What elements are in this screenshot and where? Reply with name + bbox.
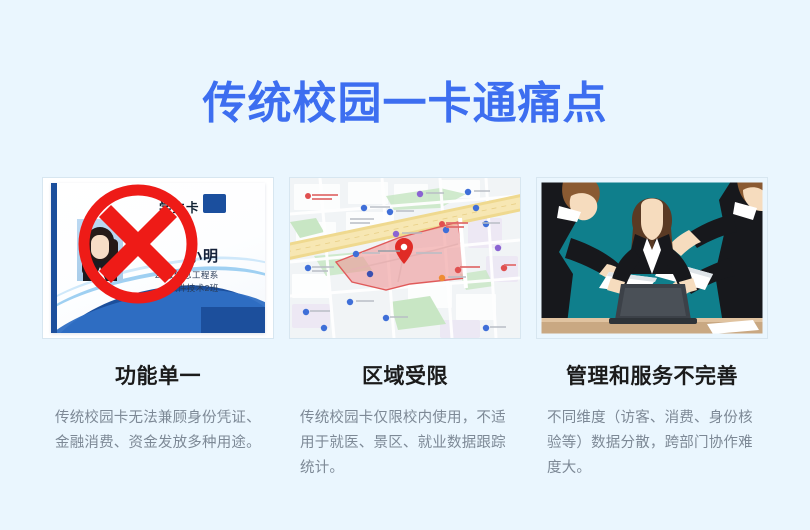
- card-title: 管理和服务不完善: [537, 360, 767, 390]
- student-card-label: 学生卡: [159, 197, 200, 216]
- student-department: 23级信息工程系: [155, 269, 219, 281]
- card-description: 不同维度（访客、消费、身份核验等）数据分散，跨部门协作难度大。: [537, 406, 767, 481]
- pain-point-card-3: 管理和服务不完善 不同维度（访客、消费、身份核验等）数据分散，跨部门协作难度大。: [537, 178, 767, 498]
- laptop-icon: [609, 284, 697, 324]
- pain-point-columns: 学生卡 小明 23级信息工程系 软件技术2班 功能单一: [0, 178, 810, 498]
- pain-point-card-2: 区域受限 传统校园卡仅限校内使用，不适用于就医、景区、就业数据跟踪统计。: [290, 178, 520, 498]
- student-photo: [77, 219, 123, 281]
- map-canvas: [290, 178, 520, 338]
- office-illustration: [537, 178, 767, 338]
- map-image: [290, 178, 520, 338]
- card-left-bar: [51, 183, 57, 333]
- card-title: 功能单一: [43, 360, 273, 390]
- pain-point-card-1: 学生卡 小明 23级信息工程系 软件技术2班 功能单一: [43, 178, 273, 498]
- card-corner-block: [201, 307, 265, 333]
- photo-face: [91, 235, 109, 259]
- student-name: 小明: [187, 245, 219, 266]
- card-description: 传统校园卡仅限校内使用，不适用于就医、景区、就业数据跟踪统计。: [290, 406, 520, 481]
- card-title: 区域受限: [290, 360, 520, 390]
- student-card-image: 学生卡 小明 23级信息工程系 软件技术2班: [43, 178, 273, 338]
- student-class: 软件技术2班: [169, 282, 219, 294]
- office-illustration-image: [537, 178, 767, 338]
- page-title: 传统校园一卡通痛点: [0, 82, 810, 126]
- card-description: 传统校园卡无法兼顾身份凭证、金融消费、资金发放多种用途。: [43, 406, 273, 456]
- card-chip-icon: [203, 194, 226, 213]
- student-id-card: 学生卡 小明 23级信息工程系 软件技术2班: [51, 183, 265, 333]
